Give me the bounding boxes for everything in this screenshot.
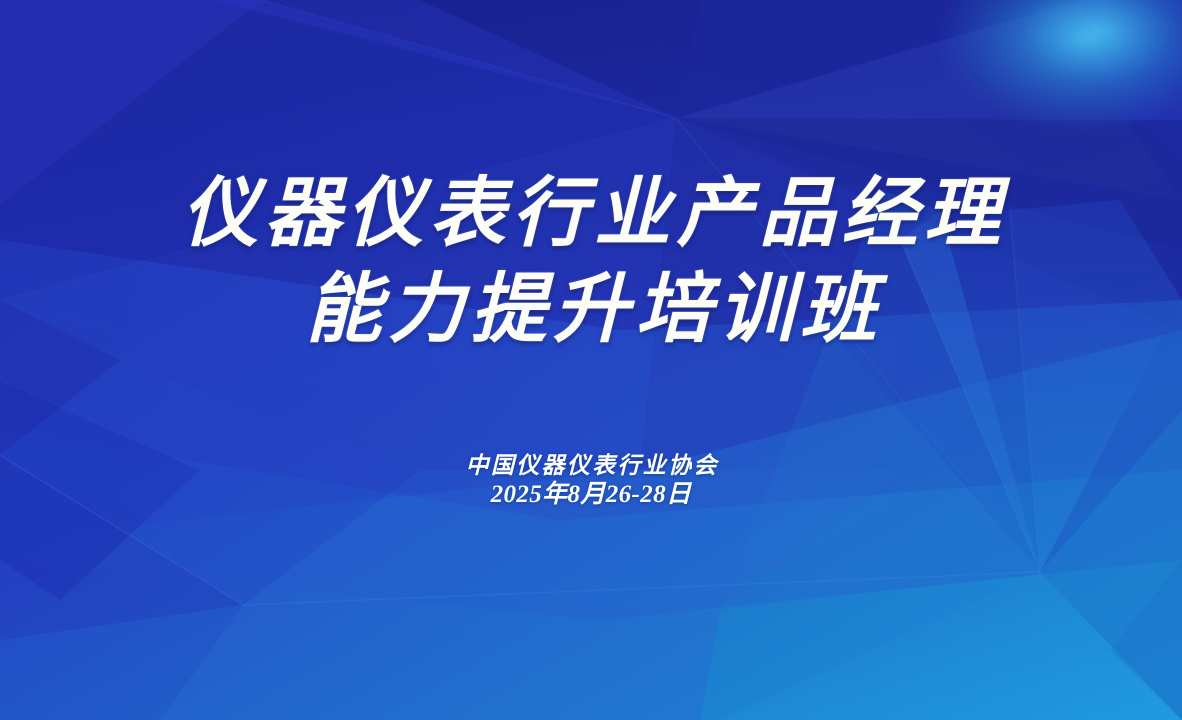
title-line-secondary: 能力提升培训班 bbox=[0, 272, 1182, 348]
title-line-primary: 仪器仪表行业产品经理 bbox=[0, 176, 1182, 252]
poster-title: 仪器仪表行业产品经理 能力提升培训班 bbox=[0, 176, 1182, 348]
poster-canvas: 仪器仪表行业产品经理 能力提升培训班 中国仪器仪表行业协会 2025年8月26-… bbox=[0, 0, 1182, 720]
organizer-name: 中国仪器仪表行业协会 bbox=[0, 452, 1182, 479]
event-dates: 2025年8月26-28日 bbox=[0, 479, 1182, 512]
poster-subtitle: 中国仪器仪表行业协会 2025年8月26-28日 bbox=[0, 452, 1182, 512]
poster-content: 仪器仪表行业产品经理 能力提升培训班 中国仪器仪表行业协会 2025年8月26-… bbox=[0, 0, 1182, 720]
